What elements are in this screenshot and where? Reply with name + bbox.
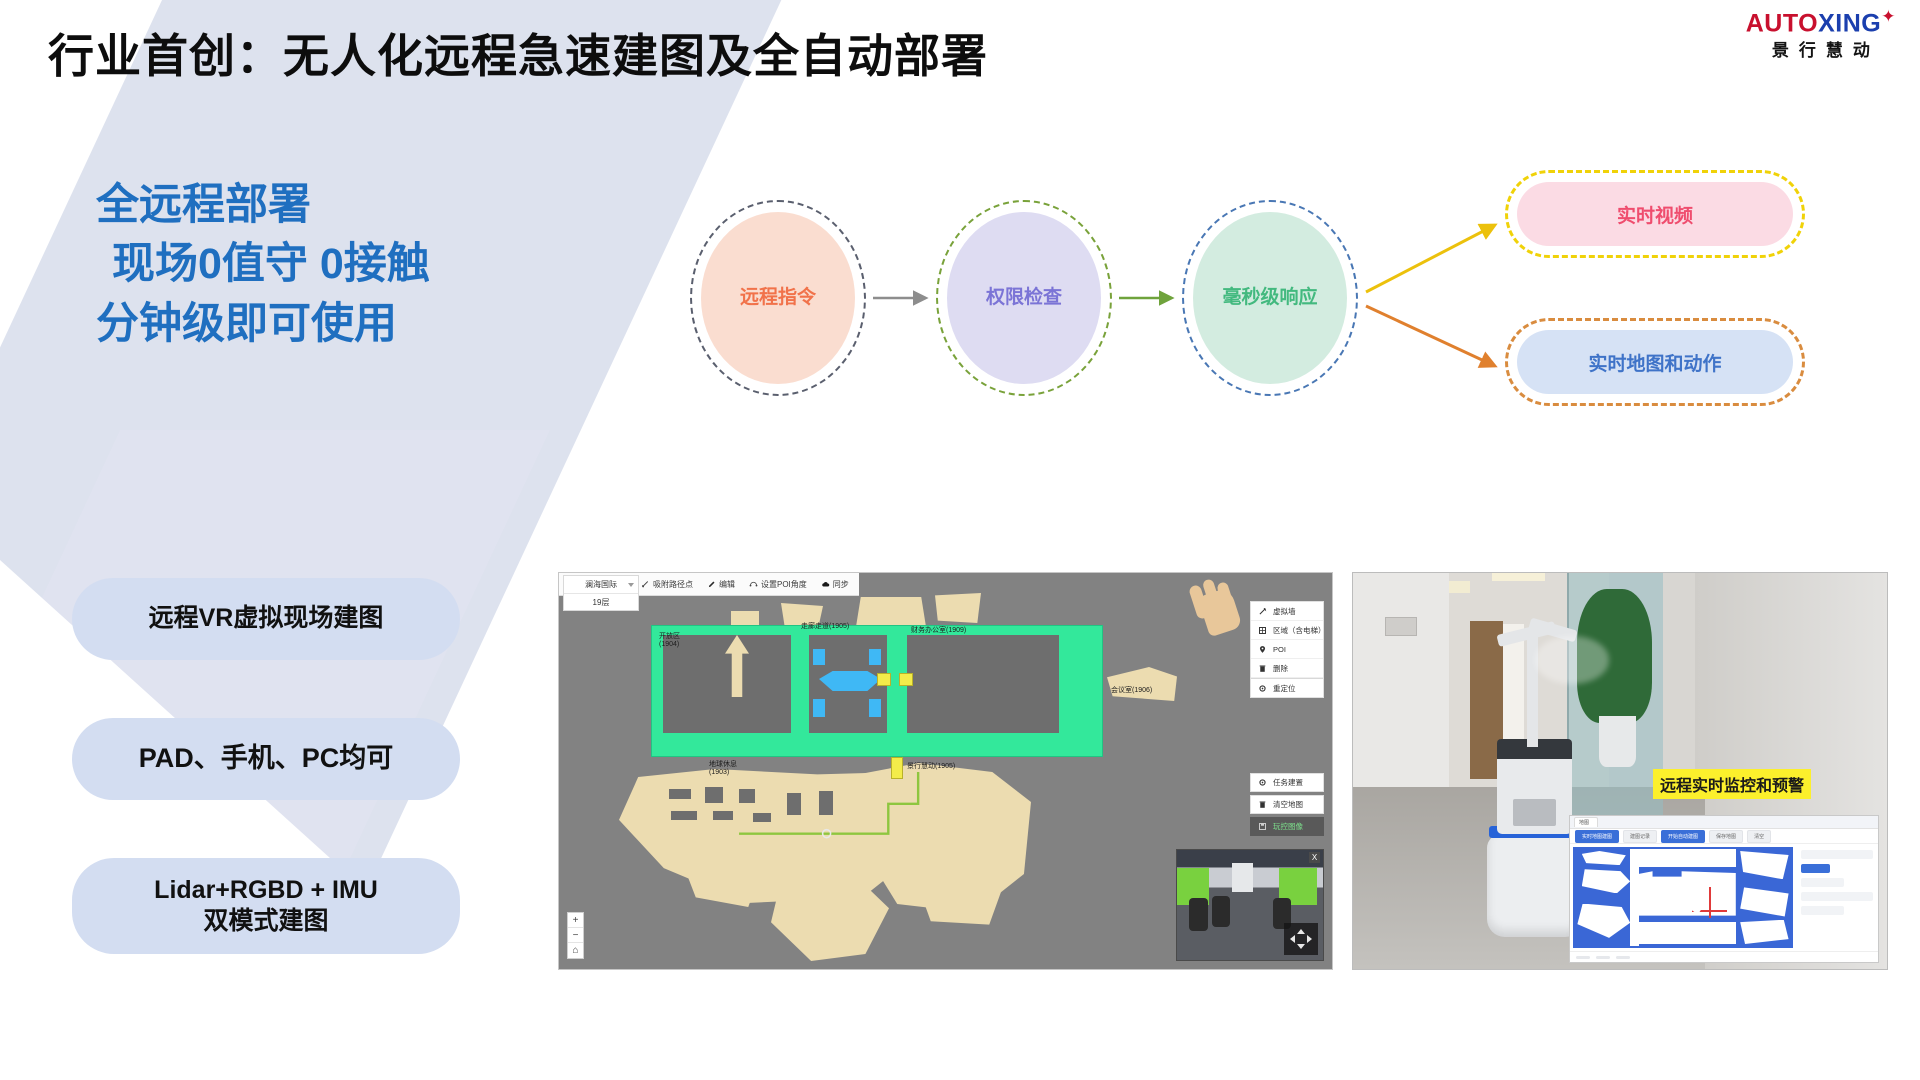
- label-text: 地球休息: [709, 761, 737, 768]
- dpad-joystick[interactable]: [1284, 923, 1318, 955]
- feature-label: PAD、手机、PC均可: [139, 742, 394, 776]
- toolbar-label: 设置POI角度: [761, 579, 807, 590]
- inset-body: [1570, 844, 1878, 951]
- flow-node-label: 毫秒级响应: [1222, 285, 1317, 311]
- flow-output-label: 实时地图和动作: [1588, 349, 1721, 376]
- flow-output-live-map[interactable]: 实时地图和动作: [1505, 318, 1805, 406]
- cloud-icon: [821, 580, 830, 589]
- trash-icon: [1258, 664, 1267, 673]
- tool-label: 虚拟墙: [1273, 606, 1296, 617]
- footer-item: [1596, 956, 1610, 959]
- map-label-room-1904: 开放区(1904): [659, 631, 680, 648]
- action-task-config[interactable]: 任务建置: [1250, 773, 1324, 792]
- tool-virtual-wall[interactable]: 虚拟墙: [1251, 602, 1323, 621]
- headline-line-2: 现场0值守 0接触: [96, 235, 430, 294]
- video-door: [1232, 863, 1252, 892]
- tool-poi[interactable]: POI: [1251, 640, 1323, 659]
- inset-footer: [1570, 951, 1878, 962]
- slam-free-space: [1582, 869, 1630, 893]
- photo-caption-badge: 远程实时监控和预警: [1653, 769, 1811, 799]
- inset-browser-window: 地图 实时地图建图 建图记录 开始自动建图 保存地图 清空: [1569, 815, 1879, 963]
- headline-line-1: 全远程部署: [96, 176, 430, 235]
- map-action-panel: 任务建置 清空地图 玩控图像: [1250, 773, 1324, 839]
- action-clear-map[interactable]: 清空地图: [1250, 795, 1324, 814]
- angle-icon: [749, 580, 758, 589]
- action-label: 玩控图像: [1273, 821, 1303, 832]
- feature-pill-dual-mode: Lidar+RGBD + IMU 双模式建图: [72, 858, 460, 954]
- map-label-office: 财务办公室(1909): [911, 625, 966, 635]
- slam-free-space: [1740, 887, 1788, 917]
- flow-output-live-video[interactable]: 实时视频: [1505, 170, 1805, 258]
- gear-icon: [1258, 684, 1267, 693]
- arrow-response-to-video: [1366, 225, 1495, 292]
- toolbar-label: 吸附路径点: [653, 579, 693, 590]
- logo-chinese-name: 景行慧动: [1746, 42, 1896, 59]
- headline-line-3: 分钟级即可使用: [96, 295, 430, 354]
- tool-label: 区域（含电梯）: [1273, 625, 1323, 636]
- gear-icon: [1258, 778, 1267, 787]
- slam-free-space: [1740, 920, 1788, 944]
- floor-name: 19层: [593, 597, 610, 608]
- toolbar-snap-waypoint[interactable]: 吸附路径点: [641, 579, 693, 590]
- sidebar-row: [1801, 850, 1873, 859]
- feature-label-group: Lidar+RGBD + IMU 双模式建图: [154, 875, 378, 938]
- lightning-icon: ✦: [1881, 7, 1896, 26]
- flow-node-ms-response[interactable]: 毫秒级响应: [1182, 200, 1358, 396]
- slam-free-space: [1740, 851, 1788, 879]
- poi-pin-marker[interactable]: [891, 757, 903, 779]
- map-label-meeting: 会议室(1906): [1111, 685, 1152, 695]
- close-icon[interactable]: X: [1309, 852, 1320, 863]
- tool-relocate[interactable]: 重定位: [1251, 678, 1323, 697]
- inset-toolbar: 实时地图建图 建图记录 开始自动建图 保存地图 清空: [1570, 829, 1878, 844]
- map-label-lounge: 地球休息(1903): [709, 759, 737, 776]
- snap-icon: [641, 580, 650, 589]
- pin-icon: [1258, 645, 1267, 654]
- logo-word-auto: AUTO: [1746, 9, 1818, 37]
- flow-node-label: 远程指令: [740, 285, 816, 311]
- plant-pot: [1599, 716, 1636, 767]
- ceiling-light: [1449, 581, 1470, 593]
- slam-corridor-wall: [1630, 849, 1639, 946]
- logo-wordmark: AUTOXING✦: [1746, 8, 1896, 36]
- label-sub: (1903): [709, 769, 729, 776]
- logo-word-xing: XING: [1818, 9, 1881, 37]
- action-save-map[interactable]: 玩控图像: [1250, 817, 1324, 836]
- page-title: 行业首创：无人化远程急速建图及全自动部署: [48, 20, 988, 86]
- inset-button-map-record[interactable]: 建图记录: [1623, 830, 1657, 843]
- inset-sidebar: [1796, 844, 1878, 951]
- sidebar-row-active[interactable]: [1801, 864, 1830, 873]
- tool-label: POI: [1273, 645, 1286, 654]
- ceiling-light: [1492, 573, 1545, 581]
- zoom-fit-button[interactable]: ⌂: [568, 943, 583, 958]
- inset-button-realtime-map[interactable]: 实时地图建图: [1575, 830, 1619, 843]
- zoom-in-button[interactable]: +: [568, 913, 583, 928]
- flow-node-label: 权限检查: [986, 285, 1062, 311]
- video-chair: [1212, 896, 1230, 927]
- building-select-row[interactable]: 澜海国际: [564, 576, 638, 593]
- map-label-corridor: 走廊走道(1905): [801, 621, 849, 631]
- brand-logo: AUTOXING✦ 景行慧动: [1746, 8, 1896, 59]
- trash-icon: [1258, 800, 1267, 809]
- spray-mist: [1535, 636, 1610, 684]
- slide-root: 行业首创：无人化远程急速建图及全自动部署 AUTOXING✦ 景行慧动 全远程部…: [0, 0, 1920, 1080]
- chevron-down-icon: [628, 583, 634, 587]
- inset-titlebar: 地图: [1570, 816, 1878, 829]
- tool-delete[interactable]: 删除: [1251, 659, 1323, 678]
- zoom-out-button[interactable]: −: [568, 928, 583, 943]
- flow-node-remote-command[interactable]: 远程指令: [690, 200, 866, 396]
- area-icon: [1258, 626, 1267, 635]
- building-floor-selector[interactable]: 澜海国际 19层: [563, 575, 639, 611]
- arrow-response-to-map: [1366, 306, 1495, 366]
- video-chair: [1189, 898, 1208, 931]
- feature-label-line2: 双模式建图: [203, 907, 328, 935]
- building-name: 澜海国际: [585, 579, 617, 590]
- toolbar-sync[interactable]: 同步: [821, 579, 849, 590]
- action-label: 任务建置: [1273, 777, 1303, 788]
- tool-area[interactable]: 区域（含电梯）: [1251, 621, 1323, 640]
- slam-path-marker: [1709, 887, 1711, 917]
- label-sub: (1904): [659, 641, 679, 648]
- feature-pill-multi-device: PAD、手机、PC均可: [72, 718, 460, 800]
- robot-corridor-photo: 远程实时监控和预警 地图 实时地图建图 建图记录 开始自动建图 保存地图 清空: [1352, 572, 1888, 970]
- tool-label: 删除: [1273, 663, 1288, 674]
- map-live-video-overlay[interactable]: X: [1176, 849, 1324, 961]
- map-label-poi-chip: 景行慧动(1905): [907, 761, 955, 771]
- flow-node-permission-check[interactable]: 权限检查: [936, 200, 1112, 396]
- toolbar-poi-angle[interactable]: 设置POI角度: [749, 579, 807, 590]
- footer-item: [1576, 956, 1590, 959]
- map-canvas[interactable]: 开放区(1904) 走廊走道(1905) 财务办公室(1909) 地球休息(19…: [559, 573, 1332, 969]
- slam-free-space: [1577, 904, 1630, 938]
- map-tool-panel: 虚拟墙 区域（含电梯） POI 删除 重定位: [1250, 601, 1324, 698]
- footer-item: [1616, 956, 1630, 959]
- inset-button-start-auto-mapping[interactable]: 开始自动建图: [1661, 830, 1705, 843]
- flow-output-label: 实时视频: [1617, 201, 1693, 228]
- wall-icon: [1258, 607, 1267, 616]
- action-label: 清空地图: [1273, 799, 1303, 810]
- feature-pill-vr-mapping: 远程VR虚拟现场建图: [72, 578, 460, 660]
- inset-tab[interactable]: 地图: [1574, 817, 1598, 827]
- headline-block: 全远程部署 现场0值守 0接触 分钟级即可使用: [96, 176, 430, 354]
- inset-slam-map[interactable]: [1573, 847, 1793, 948]
- dpad-icon: [1288, 927, 1314, 951]
- toolbar-label: 同步: [833, 579, 849, 590]
- inset-button-clear[interactable]: 清空: [1747, 830, 1771, 843]
- slam-free-space: [1582, 851, 1626, 865]
- sidebar-row: [1801, 892, 1873, 901]
- slam-room: [1639, 849, 1736, 867]
- toolbar-edit[interactable]: 编辑: [707, 579, 735, 590]
- inset-button-save-map[interactable]: 保存地图: [1709, 830, 1743, 843]
- wall-sign: [1385, 617, 1417, 637]
- slam-room: [1639, 922, 1736, 944]
- pencil-icon: [707, 580, 716, 589]
- robot-vent: [1513, 799, 1556, 827]
- tool-label: 重定位: [1273, 683, 1296, 694]
- robot-mast: [1527, 628, 1539, 747]
- map-zoom-controls: + − ⌂: [567, 912, 584, 959]
- toolbar-label: 编辑: [719, 579, 735, 590]
- feature-label: 远程VR虚拟现场建图: [149, 603, 384, 634]
- sidebar-row: [1801, 906, 1844, 915]
- feature-label-line1: Lidar+RGBD + IMU: [154, 876, 378, 904]
- label-text: 开放区: [659, 633, 680, 640]
- process-flow-diagram: 远程指令 权限检查 毫秒级响应 实时视频 实时地图和动作: [690, 180, 1870, 440]
- save-icon: [1258, 822, 1267, 831]
- floor-select-row[interactable]: 19层: [564, 593, 638, 610]
- map-editor-screenshot: 开放区(1904) 走廊走道(1905) 财务办公室(1909) 地球休息(19…: [558, 572, 1333, 970]
- sidebar-row: [1801, 878, 1844, 887]
